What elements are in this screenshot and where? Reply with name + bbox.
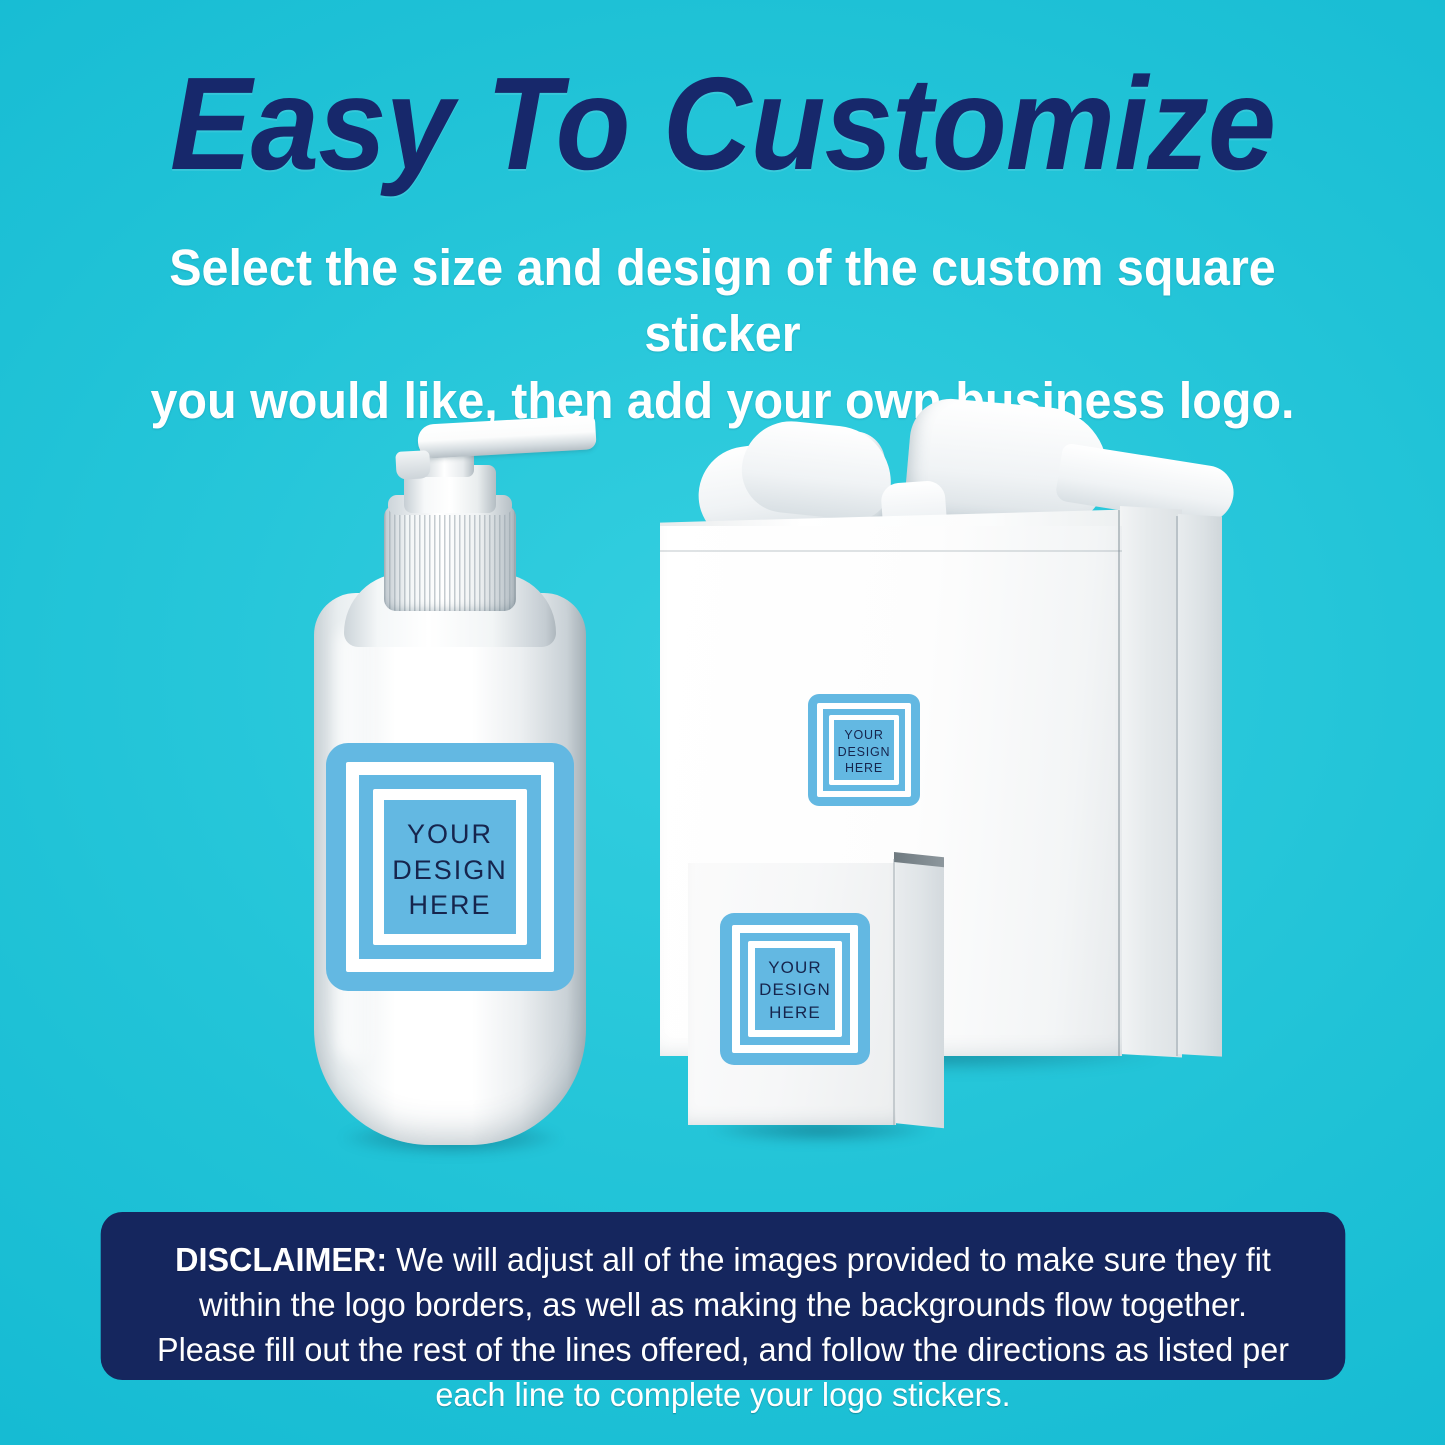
sticker-line-3: HERE: [720, 1002, 870, 1024]
sticker-label: YOUR DESIGN HERE: [808, 727, 920, 777]
pump-nozzle-lip: [395, 450, 430, 480]
sticker-line-2: DESIGN: [808, 744, 920, 761]
giftbox-side-panel: [1120, 506, 1182, 1057]
small-box-mockup: YOUR DESIGN HERE: [680, 855, 970, 1165]
sticker-line-1: YOUR: [720, 957, 870, 979]
sticker-label: YOUR DESIGN HERE: [720, 957, 870, 1024]
small-box-side-panel: [894, 855, 944, 1128]
sticker-line-3: HERE: [326, 888, 574, 924]
giftbox-edge-seam-1: [1118, 510, 1120, 1056]
sticker-label: YOUR DESIGN HERE: [326, 817, 574, 924]
giftbox-back-panel: [1178, 514, 1222, 1057]
sticker-line-1: YOUR: [808, 727, 920, 744]
sticker-line-2: DESIGN: [720, 979, 870, 1001]
disclaimer-banner: DISCLAIMER: We will adjust all of the im…: [101, 1212, 1346, 1380]
promo-graphic: Easy To Customize Select the size and de…: [0, 0, 1445, 1445]
disclaimer-label: DISCLAIMER:: [175, 1241, 387, 1278]
sticker-on-small-box: YOUR DESIGN HERE: [720, 913, 870, 1065]
giftbox-lid-seam: [660, 550, 1122, 552]
page-title: Easy To Customize: [51, 58, 1395, 190]
sticker-line-2: DESIGN: [326, 853, 574, 889]
sticker-on-gift-box: YOUR DESIGN HERE: [808, 694, 920, 806]
pump-bottle-mockup: YOUR DESIGN HERE: [300, 425, 600, 1165]
small-box-edge-seam: [893, 859, 895, 1125]
sticker-on-bottle: YOUR DESIGN HERE: [326, 743, 574, 991]
giftbox-edge-seam-2: [1176, 516, 1178, 1056]
sticker-line-1: YOUR: [326, 817, 574, 853]
pump-ribbed-collar: [384, 505, 516, 611]
subtitle-line-1: Select the size and design of the custom…: [122, 235, 1324, 368]
sticker-line-3: HERE: [808, 760, 920, 777]
